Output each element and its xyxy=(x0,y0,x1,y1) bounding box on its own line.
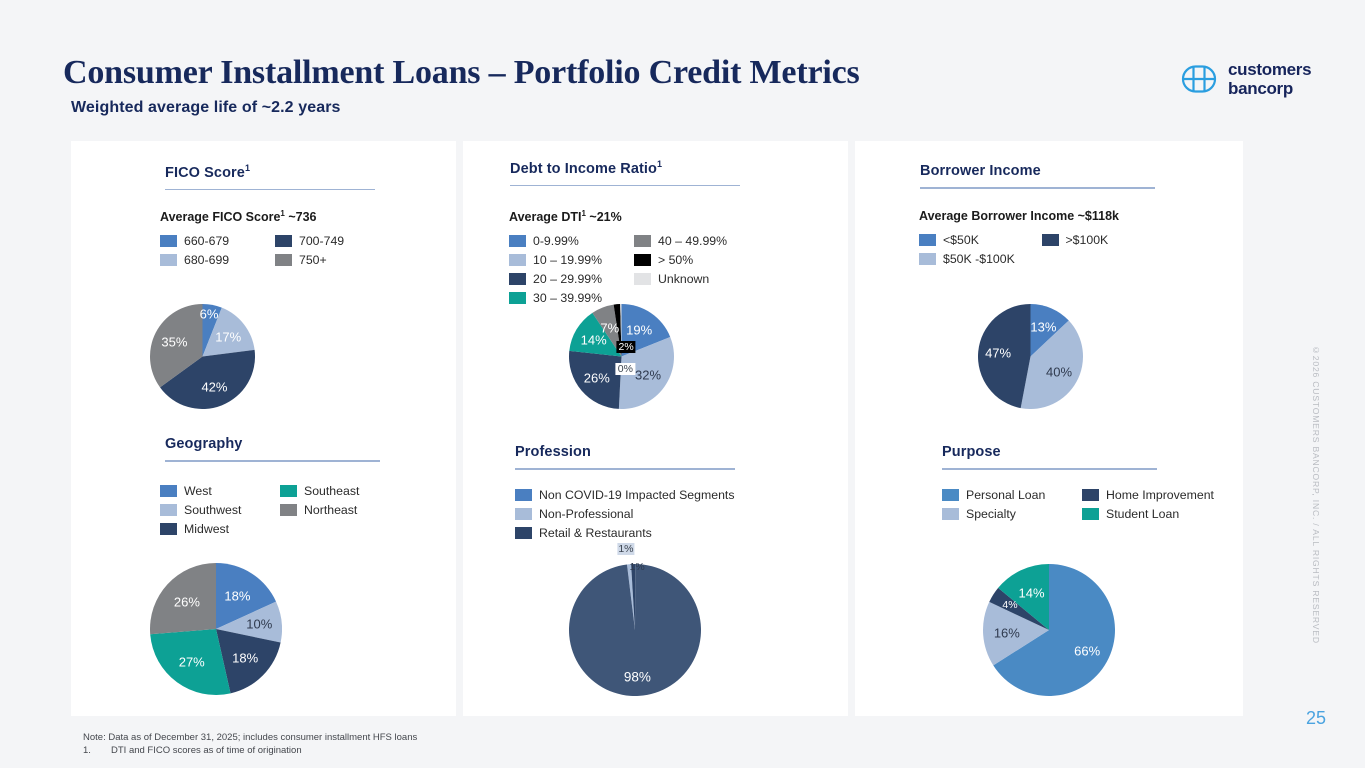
legend-purpose: Personal LoanHome ImprovementSpecialtySt… xyxy=(942,485,1222,523)
dti-average: Average DTI1 ~21% xyxy=(509,209,759,224)
section-rule xyxy=(942,468,1157,470)
legend-swatch xyxy=(160,504,177,516)
legend-swatch xyxy=(160,523,177,535)
section-title-purpose: Purpose xyxy=(942,444,1157,460)
legend-label: Southwest xyxy=(184,503,241,517)
legend-geography: WestSoutheastSouthwestNortheastMidwest xyxy=(160,481,400,538)
logo-line-2: bancorp xyxy=(1228,79,1311,98)
income-average: Average Borrower Income ~$118k xyxy=(919,209,1164,223)
legend-label: 680-699 xyxy=(184,253,229,267)
pie-svg xyxy=(569,564,701,696)
legend-item: Home Improvement xyxy=(1082,485,1222,504)
legend-item: Southwest xyxy=(160,500,280,519)
legend-swatch xyxy=(160,254,177,266)
legend-swatch xyxy=(275,235,292,247)
customers-bancorp-logo-icon xyxy=(1181,64,1217,94)
legend-item: 10 – 19.99% xyxy=(509,250,634,269)
legend-item: >$100K xyxy=(1042,230,1165,249)
legend-swatch xyxy=(919,253,936,265)
legend-swatch xyxy=(1042,234,1059,246)
legend-swatch xyxy=(275,254,292,266)
legend-label: $50K -$100K xyxy=(943,252,1015,266)
legend-swatch xyxy=(509,235,526,247)
legend-swatch xyxy=(160,235,177,247)
legend-item: 680-699 xyxy=(160,250,275,269)
legend-label: Southeast xyxy=(304,484,359,498)
section-title-profession: Profession xyxy=(515,444,735,460)
legend-label: > 50% xyxy=(658,253,693,267)
pie-slice xyxy=(150,563,216,634)
legend-label: Home Improvement xyxy=(1106,488,1214,502)
legend-label: Student Loan xyxy=(1106,507,1179,521)
legend-dti: 0-9.99%40 – 49.99%10 – 19.99%> 50%20 – 2… xyxy=(509,231,759,307)
pie-svg xyxy=(150,563,282,695)
legend-item: $50K -$100K xyxy=(919,249,1042,268)
legend-label: 20 – 29.99% xyxy=(533,272,602,286)
legend-swatch xyxy=(280,485,297,497)
section-title-geography: Geography xyxy=(165,436,380,452)
legend-item: Southeast xyxy=(280,481,400,500)
legend-label: Unknown xyxy=(658,272,709,286)
section-title-fico: FICO Score1 xyxy=(165,163,375,181)
legend-label: Midwest xyxy=(184,522,229,536)
legend-label: Non-Professional xyxy=(539,507,633,521)
pie-svg xyxy=(569,304,674,409)
legend-item: 20 – 29.99% xyxy=(509,269,634,288)
legend-item: 40 – 49.99% xyxy=(634,231,759,250)
page-subtitle: Weighted average life of ~2.2 years xyxy=(71,99,341,117)
legend-label: 700-749 xyxy=(299,234,344,248)
legend-swatch xyxy=(509,254,526,266)
pie-chart-profession: 1%1%98% xyxy=(569,564,701,701)
legend-label: 10 – 19.99% xyxy=(533,253,602,267)
legend-label: 40 – 49.99% xyxy=(658,234,727,248)
legend-swatch xyxy=(919,234,936,246)
footnote-number: 1. xyxy=(83,744,111,757)
fico-average: Average FICO Score1 ~736 xyxy=(160,209,390,224)
pie-chart-purpose: 66%16%4%14% xyxy=(983,564,1115,701)
legend-swatch xyxy=(160,485,177,497)
section-title-dti: Debt to Income Ratio1 xyxy=(510,159,740,177)
legend-swatch xyxy=(942,489,959,501)
logo-line-1: customers xyxy=(1228,60,1311,79)
pie-slice-label: 1% xyxy=(617,543,634,555)
legend-label: Non COVID-19 Impacted Segments xyxy=(539,488,734,502)
legend-item: West xyxy=(160,481,280,500)
legend-label: Retail & Restaurants xyxy=(539,526,652,540)
legend-label: 750+ xyxy=(299,253,327,267)
legend-item: Non COVID-19 Impacted Segments xyxy=(515,485,835,504)
legend-swatch xyxy=(634,273,651,285)
legend-swatch xyxy=(1082,489,1099,501)
legend-label: Personal Loan xyxy=(966,488,1045,502)
legend-item: Retail & Restaurants xyxy=(515,523,835,542)
legend-profession: Non COVID-19 Impacted SegmentsNon-Profes… xyxy=(515,485,835,542)
copyright-notice: ©2026 CUSTOMERS BANCORP, INC. / ALL RIGH… xyxy=(1311,345,1321,644)
pie-chart-dti: 19%32%26%14%7%2%0% xyxy=(569,304,674,414)
legend-item: Student Loan xyxy=(1082,504,1222,523)
pie-svg xyxy=(983,564,1115,696)
legend-swatch xyxy=(942,508,959,520)
legend-item: > 50% xyxy=(634,250,759,269)
footnote-text: DTI and FICO scores as of time of origin… xyxy=(111,744,302,757)
panel-income-purpose: Borrower Income Average Borrower Income … xyxy=(855,141,1243,716)
legend-swatch xyxy=(1082,508,1099,520)
section-rule xyxy=(510,185,740,187)
legend-swatch xyxy=(634,235,651,247)
legend-item: Specialty xyxy=(942,504,1082,523)
pie-chart-income: 13%40%47% xyxy=(978,304,1083,414)
section-title-income: Borrower Income xyxy=(920,163,1155,179)
section-rule xyxy=(165,460,380,462)
legend-label: 660-679 xyxy=(184,234,229,248)
pie-svg xyxy=(150,304,255,409)
pie-chart-fico: 6%17%42%35% xyxy=(150,304,255,414)
section-rule xyxy=(920,187,1155,189)
legend-income: <$50K>$100K$50K -$100K xyxy=(919,230,1164,268)
legend-label: Specialty xyxy=(966,507,1016,521)
section-rule xyxy=(515,468,735,470)
legend-item: Non-Professional xyxy=(515,504,835,523)
legend-item: Northeast xyxy=(280,500,400,519)
legend-item: Personal Loan xyxy=(942,485,1082,504)
legend-item: 660-679 xyxy=(160,231,275,250)
legend-swatch xyxy=(515,527,532,539)
legend-item: Unknown xyxy=(634,269,759,288)
panel-dti-profession: Debt to Income Ratio1 Average DTI1 ~21% … xyxy=(463,141,848,716)
page-title: Consumer Installment Loans – Portfolio C… xyxy=(63,54,860,92)
legend-swatch xyxy=(509,273,526,285)
legend-swatch xyxy=(280,504,297,516)
legend-label: >$100K xyxy=(1066,233,1109,247)
legend-item: 0-9.99% xyxy=(509,231,634,250)
legend-item: Midwest xyxy=(160,519,280,538)
logo-wordmark: customers bancorp xyxy=(1228,60,1311,98)
pie-chart-geography: 18%10%18%27%26% xyxy=(150,563,282,700)
legend-swatch xyxy=(509,292,526,304)
footnote-1: 1. DTI and FICO scores as of time of ori… xyxy=(83,744,417,757)
pie-svg xyxy=(978,304,1083,409)
legend-fico: 660-679700-749680-699750+ xyxy=(160,231,390,269)
legend-swatch xyxy=(515,489,532,501)
legend-label: West xyxy=(184,484,212,498)
legend-swatch xyxy=(515,508,532,520)
legend-item: 750+ xyxy=(275,250,390,269)
legend-swatch xyxy=(634,254,651,266)
legend-label: 30 – 39.99% xyxy=(533,291,602,305)
pie-slice xyxy=(978,304,1031,408)
panel-fico-geography: FICO Score1 Average FICO Score1 ~736 660… xyxy=(71,141,456,716)
legend-label: <$50K xyxy=(943,233,979,247)
page-number: 25 xyxy=(1306,708,1326,729)
footnotes: Note: Data as of December 31, 2025; incl… xyxy=(83,731,417,758)
pie-slice xyxy=(569,351,622,409)
legend-item: 700-749 xyxy=(275,231,390,250)
legend-label: Northeast xyxy=(304,503,357,517)
legend-item: <$50K xyxy=(919,230,1042,249)
slide-root: Consumer Installment Loans – Portfolio C… xyxy=(0,0,1365,768)
company-logo: customers bancorp xyxy=(1181,60,1311,98)
section-rule xyxy=(165,189,375,191)
footnote-note: Note: Data as of December 31, 2025; incl… xyxy=(83,731,417,744)
legend-label: 0-9.99% xyxy=(533,234,579,248)
